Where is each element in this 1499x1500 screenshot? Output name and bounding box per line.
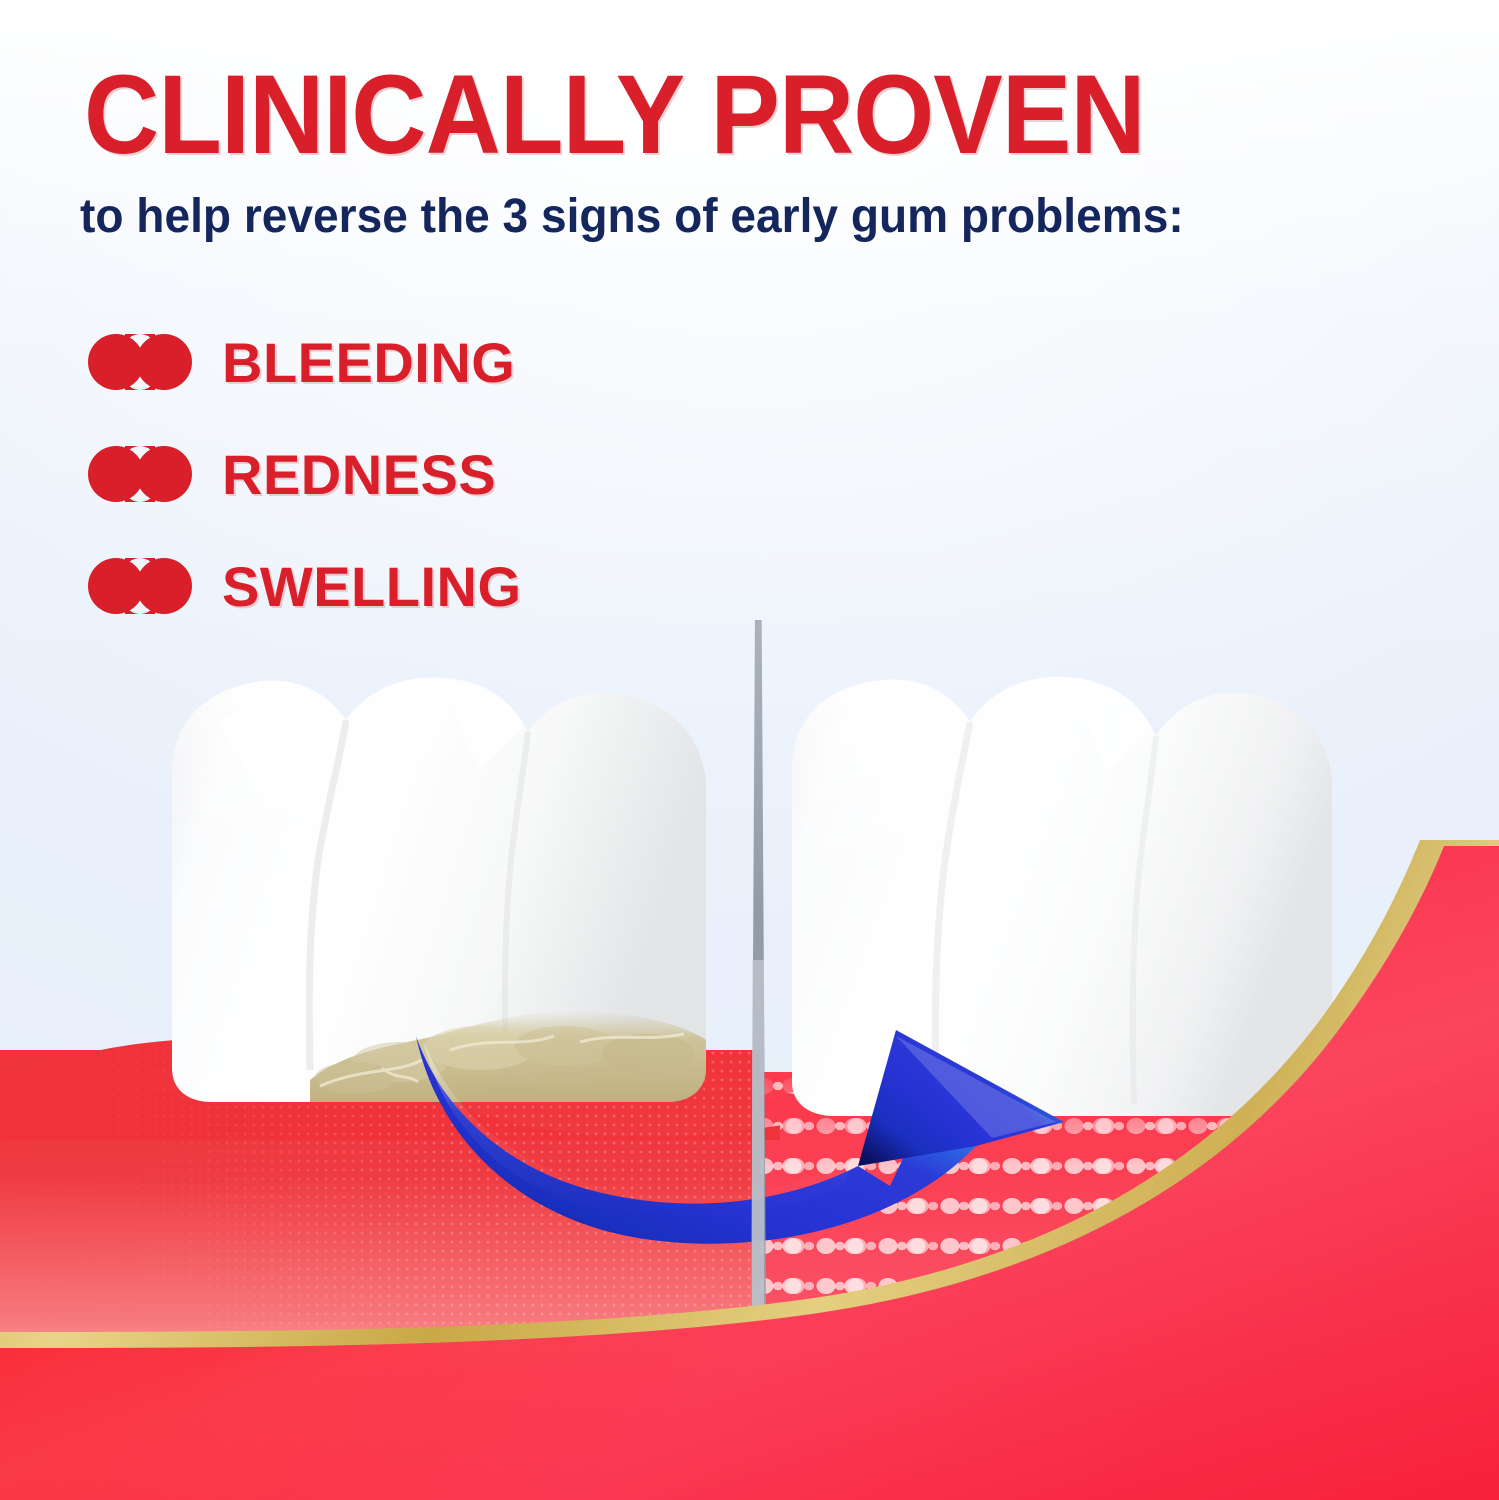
sign-label-swelling: SWELLING bbox=[222, 554, 522, 619]
peanut-bullet-icon bbox=[88, 558, 192, 614]
signs-list: BLEEDING REDNESS SWELLING bbox=[88, 306, 522, 642]
page-subtitle: to help reverse the 3 signs of early gum… bbox=[80, 192, 1386, 242]
peanut-bullet-icon bbox=[88, 334, 192, 390]
peanut-bullet-icon bbox=[88, 446, 192, 502]
list-item: REDNESS bbox=[88, 418, 522, 530]
list-item: BLEEDING bbox=[88, 306, 522, 418]
sign-label-redness: REDNESS bbox=[222, 442, 496, 507]
page-title: CLINICALLY PROVEN bbox=[84, 62, 1312, 168]
before-after-illustration bbox=[0, 620, 1499, 1500]
blue-curved-arrow-icon bbox=[380, 990, 1100, 1255]
ad-creative-root: CLINICALLY PROVEN to help reverse the 3 … bbox=[0, 0, 1499, 1500]
sign-label-bleeding: BLEEDING bbox=[222, 330, 515, 395]
